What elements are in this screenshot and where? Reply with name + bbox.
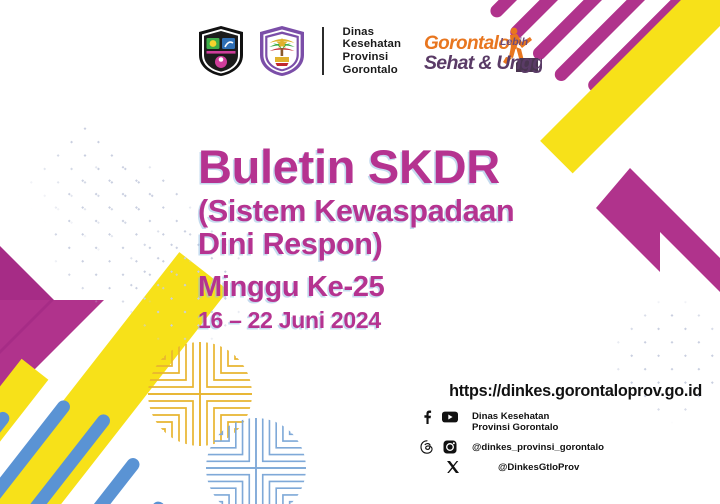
gorontalo-sehat-unggul-tagline-logo: Gorontalo Lebih Sehat & Unggul bbox=[422, 24, 542, 78]
date-range-label: 16 – 22 Juni 2024 bbox=[198, 306, 514, 334]
instagram-icon[interactable] bbox=[443, 440, 457, 454]
svg-text:Sehat & Unggul: Sehat & Unggul bbox=[424, 52, 542, 74]
blue-stripe bbox=[108, 499, 167, 504]
subtitle-line-2: Dini Respon) bbox=[198, 228, 514, 261]
contact-row: @DinkesGtloProv bbox=[406, 460, 702, 474]
x-twitter-icon[interactable] bbox=[446, 460, 460, 474]
svg-text:Lebih: Lebih bbox=[500, 36, 528, 48]
purple-stripe bbox=[488, 0, 603, 20]
contact-row-icons bbox=[420, 410, 467, 424]
kemenkes-crest-logo bbox=[196, 25, 246, 77]
contact-row-label: Dinas Kesehatan Provinsi Gorontalo bbox=[472, 410, 558, 434]
yellow-band-top-right bbox=[540, 0, 720, 173]
website-url[interactable]: https://dinkes.gorontaloprov.go.id bbox=[406, 382, 702, 401]
right-purple-chevron bbox=[596, 168, 720, 348]
contact-row-icons bbox=[420, 440, 467, 454]
contact-row: @dinkes_provinsi_gorontalo bbox=[406, 440, 702, 454]
contact-row-icons bbox=[420, 460, 493, 474]
right-purple-chevron-inner bbox=[660, 232, 720, 352]
blue-concentric-corner-circle bbox=[206, 418, 306, 504]
facebook-icon[interactable] bbox=[420, 410, 433, 424]
svg-text:Gorontalo: Gorontalo bbox=[424, 33, 509, 54]
organization-name: Dinas Kesehatan Provinsi Gorontalo bbox=[343, 26, 402, 76]
youtube-icon[interactable] bbox=[442, 411, 458, 423]
poster-canvas: Dinas Kesehatan Provinsi Gorontalo Goron… bbox=[0, 0, 720, 504]
subtitle-line-1: (Sistem Kewaspadaan bbox=[198, 195, 514, 228]
gorontalo-provincial-crest-logo bbox=[257, 25, 307, 77]
week-label: Minggu Ke-25 bbox=[198, 269, 514, 305]
contact-row-label: @DinkesGtloProv bbox=[498, 460, 579, 473]
logo-divider bbox=[322, 27, 324, 75]
page-title: Buletin SKDR bbox=[198, 141, 514, 193]
diamond-dot-grid-topleft bbox=[7, 115, 163, 271]
header-logo-row: Dinas Kesehatan Provinsi Gorontalo Goron… bbox=[196, 24, 542, 78]
contact-row: Dinas Kesehatan Provinsi Gorontalo bbox=[406, 410, 702, 434]
threads-icon[interactable] bbox=[420, 440, 434, 454]
title-block: Buletin SKDR (Sistem Kewaspadaan Dini Re… bbox=[198, 141, 514, 334]
contact-row-label: @dinkes_provinsi_gorontalo bbox=[472, 440, 604, 453]
contact-block: https://dinkes.gorontaloprov.go.id Dinas… bbox=[406, 382, 702, 480]
